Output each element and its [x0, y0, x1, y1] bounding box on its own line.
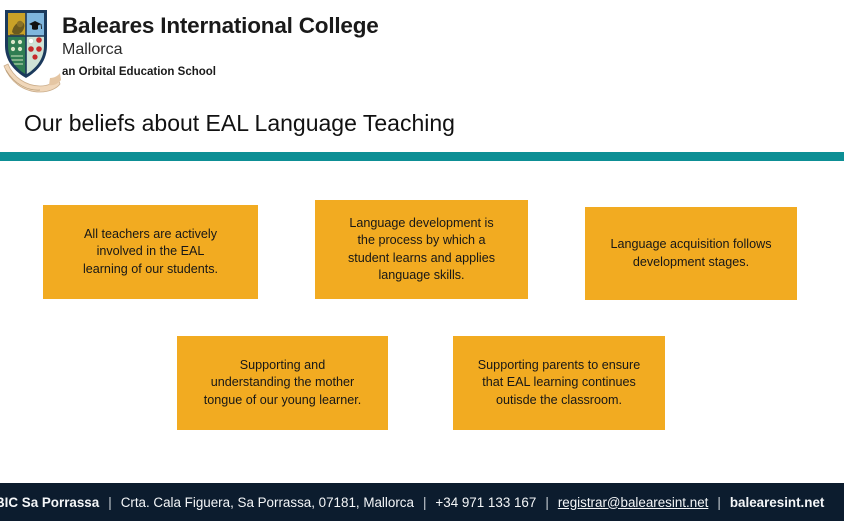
- footer-email-link[interactable]: registrar@balearesint.net: [558, 495, 709, 510]
- belief-card-text: Supporting and understanding the mother …: [204, 357, 362, 410]
- brand-tagline: an Orbital Education School: [62, 64, 379, 80]
- teal-divider: [0, 152, 844, 161]
- footer-phone: +34 971 133 167: [435, 495, 536, 510]
- brand-location: Mallorca: [62, 40, 379, 60]
- page-title: Our beliefs about EAL Language Teaching: [24, 110, 455, 137]
- footer-separator: |: [708, 495, 729, 510]
- footer-website: balearesint.net: [730, 495, 825, 510]
- school-crest-icon: [0, 4, 62, 96]
- footer-separator: |: [99, 495, 120, 510]
- belief-card-text: Language development is the process by w…: [348, 215, 495, 285]
- page-header: Baleares International College Mallorca …: [0, 0, 844, 95]
- belief-card-text: Supporting parents to ensure that EAL le…: [478, 357, 640, 410]
- belief-card: Supporting parents to ensure that EAL le…: [453, 336, 665, 430]
- belief-card: Language development is the process by w…: [315, 200, 528, 299]
- belief-card: Supporting and understanding the mother …: [177, 336, 388, 430]
- footer-contact-bar: BIC Sa Porrassa | Crta. Cala Figuera, Sa…: [0, 483, 824, 521]
- page-footer: BIC Sa Porrassa | Crta. Cala Figuera, Sa…: [0, 483, 844, 521]
- footer-separator: |: [414, 495, 435, 510]
- brand-block: Baleares International College Mallorca …: [62, 13, 379, 80]
- footer-campus: BIC Sa Porrassa: [0, 495, 99, 510]
- footer-separator: |: [536, 495, 557, 510]
- belief-card-text: Language acquisition follows development…: [610, 236, 771, 271]
- belief-card: Language acquisition follows development…: [585, 207, 797, 300]
- belief-card: All teachers are actively involved in th…: [43, 205, 258, 299]
- belief-card-text: All teachers are actively involved in th…: [83, 226, 218, 279]
- brand-name: Baleares International College: [62, 13, 379, 39]
- footer-address: Crta. Cala Figuera, Sa Porrassa, 07181, …: [121, 495, 414, 510]
